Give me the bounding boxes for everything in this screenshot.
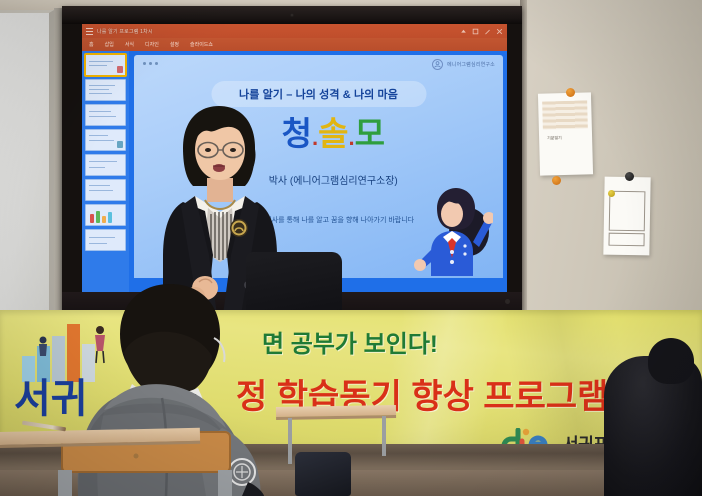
magnet-dark-icon bbox=[625, 172, 634, 181]
menu-item-settings[interactable]: 설정 bbox=[170, 41, 179, 48]
slide-thumbnail[interactable] bbox=[85, 229, 126, 251]
brand-char-1: 청 bbox=[282, 115, 312, 152]
person-circle-icon bbox=[432, 59, 443, 70]
wall-paper-diagram bbox=[603, 177, 650, 256]
menu-item-home[interactable]: 홈 bbox=[89, 41, 94, 48]
display-bezel-top bbox=[62, 6, 522, 24]
slide-thumbnail[interactable] bbox=[85, 129, 126, 151]
paper-caption: 기분일기 bbox=[547, 135, 562, 141]
magnet-yellow-icon bbox=[608, 190, 615, 197]
slide-thumbnail[interactable] bbox=[85, 179, 126, 201]
classroom-scene: 기분일기 나를 알기 프로그램 1차시 bbox=[0, 0, 702, 496]
slide-subtitle: 박사 (에니어그램심리연구소장) bbox=[269, 172, 398, 187]
hamburger-icon[interactable] bbox=[86, 28, 93, 35]
magnet-orange-icon bbox=[552, 176, 561, 185]
app-menubar: 홈 삽입 서식 디자인 설정 슬라이드쇼 bbox=[82, 38, 507, 51]
paper-table-grid bbox=[542, 100, 588, 129]
slide-logo: 에니어그램심리연구소 bbox=[432, 59, 495, 70]
whiteboard bbox=[0, 10, 54, 310]
slide-dots-decoration bbox=[143, 62, 158, 65]
slide-brand: 청.솔.모 bbox=[282, 117, 385, 150]
slide-thumbnail[interactable] bbox=[85, 104, 126, 126]
app-title: 나를 알기 프로그램 1차시 bbox=[97, 28, 153, 35]
present-icon[interactable] bbox=[472, 28, 479, 35]
backpack bbox=[295, 452, 351, 496]
paper-diagram-box2 bbox=[608, 233, 644, 247]
display-led-icon bbox=[505, 299, 510, 304]
app-titlebar: 나를 알기 프로그램 1차시 bbox=[82, 24, 507, 38]
slide-thumbnail-panel[interactable] bbox=[82, 51, 129, 292]
menu-item-insert[interactable]: 삽입 bbox=[105, 41, 114, 48]
close-icon[interactable] bbox=[496, 28, 503, 35]
menu-item-design[interactable]: 디자인 bbox=[145, 41, 159, 48]
slide-thumbnail[interactable] bbox=[85, 79, 126, 101]
slide-thumbnail[interactable] bbox=[85, 204, 126, 226]
wall-paper-table: 기분일기 bbox=[538, 92, 593, 175]
edit-icon[interactable] bbox=[484, 28, 491, 35]
menu-item-format[interactable]: 서식 bbox=[125, 41, 134, 48]
desk-leg bbox=[382, 416, 386, 456]
paper-diagram-box bbox=[609, 191, 646, 232]
titlebar-actions bbox=[460, 28, 503, 35]
camera-icon bbox=[290, 13, 294, 17]
seated-person-head bbox=[648, 338, 694, 384]
brand-char-2: 솔 bbox=[318, 115, 348, 152]
cloud-upload-icon[interactable] bbox=[460, 28, 467, 35]
menu-item-slideshow[interactable]: 슬라이드쇼 bbox=[190, 41, 213, 48]
magnet-orange-icon bbox=[566, 88, 575, 97]
slide-logo-text: 에니어그램심리연구소 bbox=[447, 61, 495, 68]
student-pointing-icon bbox=[407, 180, 493, 276]
brand-char-3: 모 bbox=[355, 115, 385, 152]
slide-thumbnail[interactable] bbox=[85, 154, 126, 176]
slide-thumbnail[interactable] bbox=[85, 54, 126, 76]
